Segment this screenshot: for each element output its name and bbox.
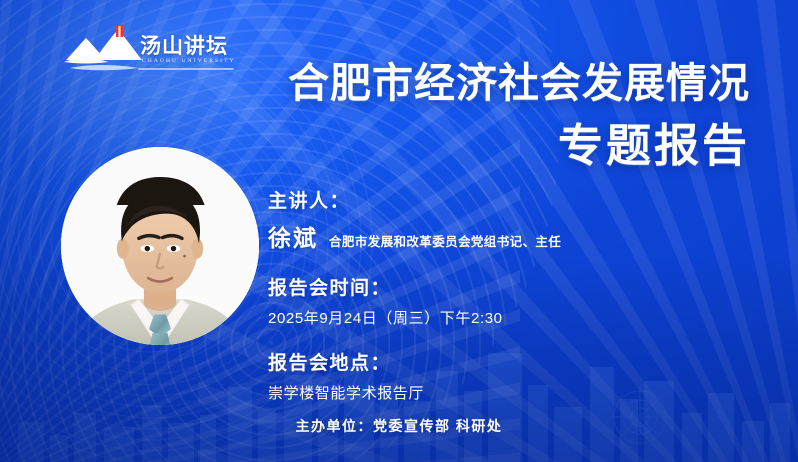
portrait-circle-mask — [61, 147, 259, 345]
portrait-photo — [61, 147, 259, 345]
speaker-name: 徐斌 — [268, 219, 318, 253]
spacer — [268, 328, 561, 348]
logo-chinese-text: 汤山讲坛 — [140, 30, 228, 60]
logo-underline — [138, 68, 234, 70]
speaker-portrait — [61, 147, 259, 345]
venue-label: 报告会地点： — [268, 348, 561, 375]
mountain-wave-logo-icon — [64, 26, 152, 74]
time-value: 2025年9月24日（周三）下午2:30 — [268, 307, 561, 328]
spacer — [268, 253, 561, 273]
page-title-line-2: 专题报告 — [288, 123, 750, 170]
organizer-footer: 主办单位：党委宣传部 科研处 — [0, 416, 798, 436]
time-label: 报告会时间： — [268, 273, 561, 300]
speaker-title: 合肥市发展和改革委员会党组书记、主任 — [329, 231, 561, 250]
event-details: 主讲人： 徐斌 合肥市发展和改革委员会党组书记、主任 报告会时间： 2025年9… — [268, 186, 561, 403]
speaker-label: 主讲人： — [268, 186, 561, 213]
page-title-line-1: 合肥市经济社会发展情况 — [288, 62, 750, 105]
logo-english-text: CHAOHU UNIVERSITY — [142, 58, 236, 64]
university-logo: 汤山讲坛 CHAOHU UNIVERSITY — [64, 22, 236, 78]
speaker-row: 徐斌 合肥市发展和改革委员会党组书记、主任 — [268, 219, 561, 253]
event-poster: 汤山讲坛 CHAOHU UNIVERSITY 合肥市经济社会发展情况 专题报告 — [0, 0, 798, 462]
venue-value: 崇学楼智能学术报告厅 — [268, 382, 561, 403]
page-title: 合肥市经济社会发展情况 专题报告 — [288, 62, 750, 169]
